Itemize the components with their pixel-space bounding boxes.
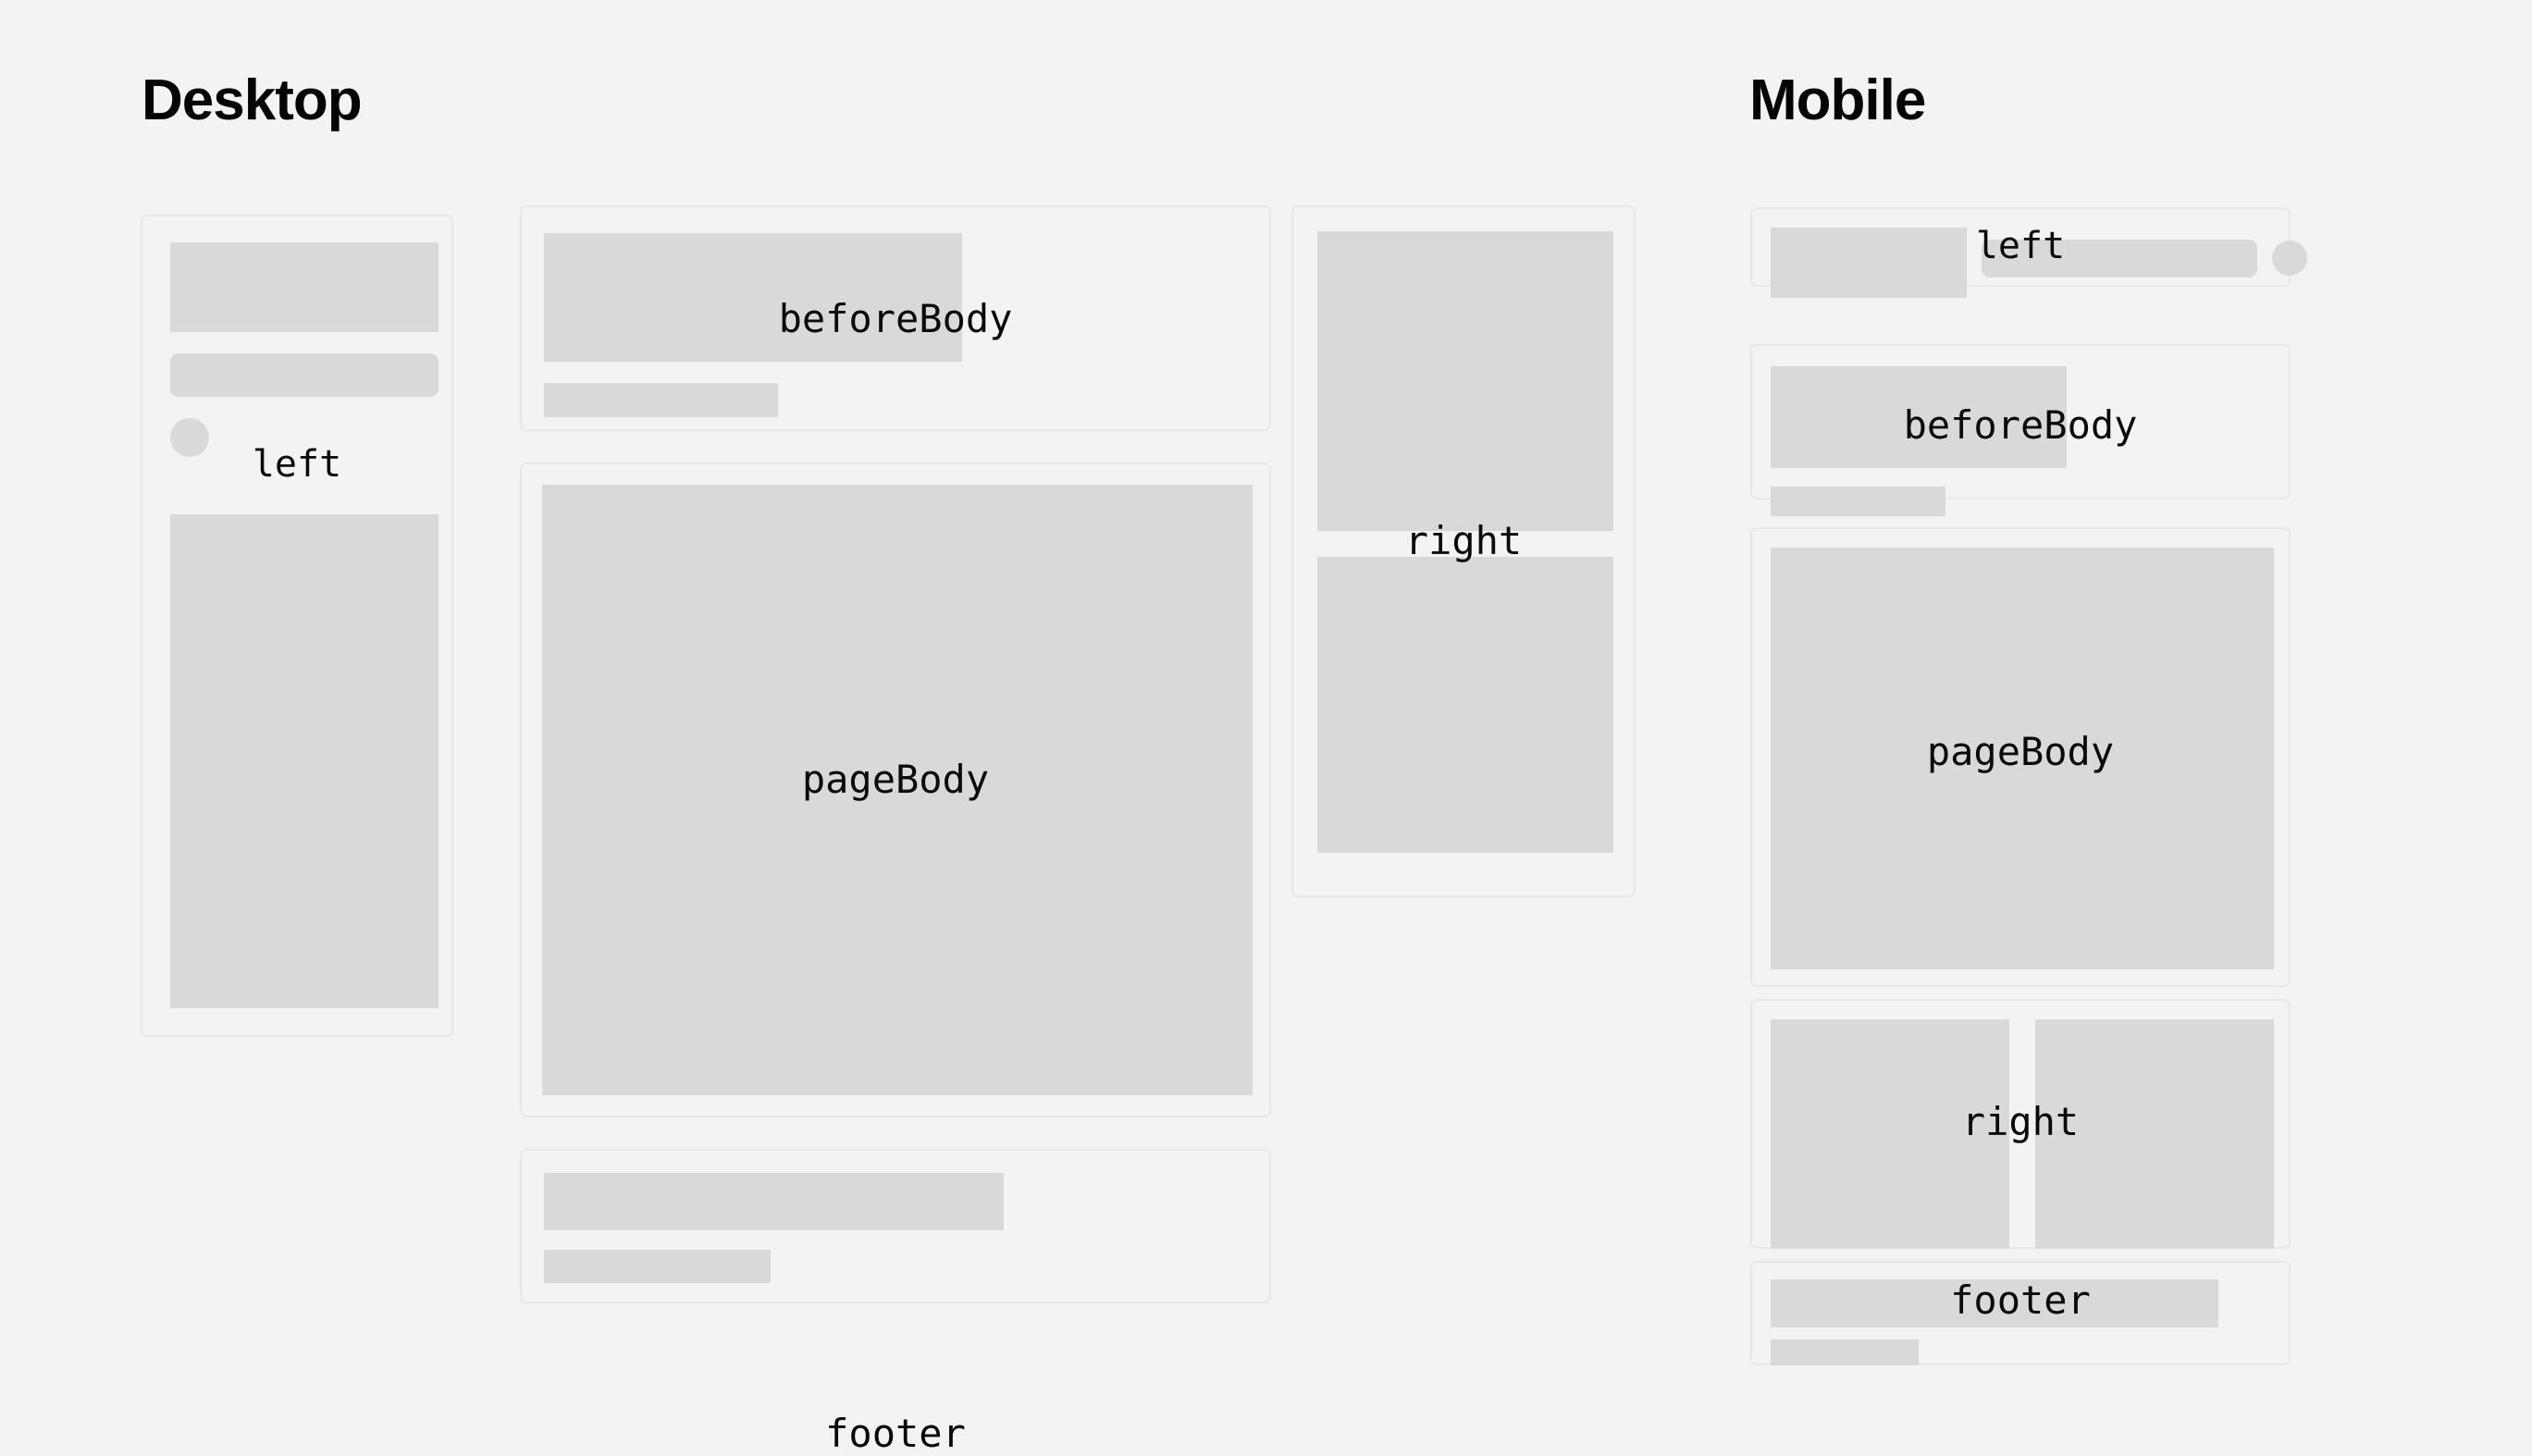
- mobile-region-left[interactable]: left: [1750, 207, 2291, 287]
- mobile-region-footer[interactable]: footer: [1750, 1261, 2291, 1365]
- desktop-region-right[interactable]: right: [1291, 205, 1636, 897]
- skeleton-bar-footer-primary: [544, 1173, 1004, 1230]
- skeleton-circle-avatar: [2272, 241, 2307, 276]
- desktop-region-pagebody[interactable]: pageBody: [520, 463, 1271, 1117]
- skeleton-bar-nav: [1982, 240, 2257, 278]
- skeleton-bar-nav: [170, 353, 438, 397]
- skeleton-block-header: [170, 242, 438, 332]
- skeleton-bar-secondary: [1771, 487, 1945, 516]
- skeleton-block-sidebar-body: [170, 514, 438, 1008]
- skeleton-block-right-start: [1771, 1019, 2009, 1249]
- desktop-region-left[interactable]: left: [141, 215, 453, 1037]
- skeleton-block-right-end: [2035, 1019, 2274, 1249]
- skeleton-block-right-top: [1317, 231, 1613, 531]
- skeleton-block-pagebody: [1771, 548, 2274, 969]
- skeleton-bar-secondary: [544, 383, 778, 417]
- mobile-region-pagebody[interactable]: pageBody: [1750, 527, 2291, 987]
- skeleton-block-pagebody: [542, 485, 1253, 1095]
- desktop-region-footer[interactable]: footer: [520, 1149, 1271, 1303]
- skeleton-block-primary: [1771, 366, 2067, 468]
- mobile-region-right[interactable]: right: [1750, 999, 2291, 1249]
- desktop-section-title: Desktop: [142, 72, 362, 130]
- mobile-section-title: Mobile: [1749, 72, 1925, 130]
- desktop-region-beforebody[interactable]: beforeBody: [520, 205, 1271, 431]
- skeleton-block-header: [1771, 228, 1967, 298]
- skeleton-bar-footer-secondary: [544, 1250, 771, 1283]
- skeleton-block-right-bottom: [1317, 557, 1613, 853]
- skeleton-circle-avatar: [170, 418, 209, 457]
- skeleton-block-primary: [544, 233, 962, 362]
- skeleton-bar-footer-primary: [1771, 1279, 2218, 1327]
- skeleton-bar-footer-secondary: [1771, 1339, 1919, 1365]
- mobile-region-beforebody[interactable]: beforeBody: [1750, 344, 2291, 500]
- desktop-footer-label: footer: [522, 1414, 1269, 1453]
